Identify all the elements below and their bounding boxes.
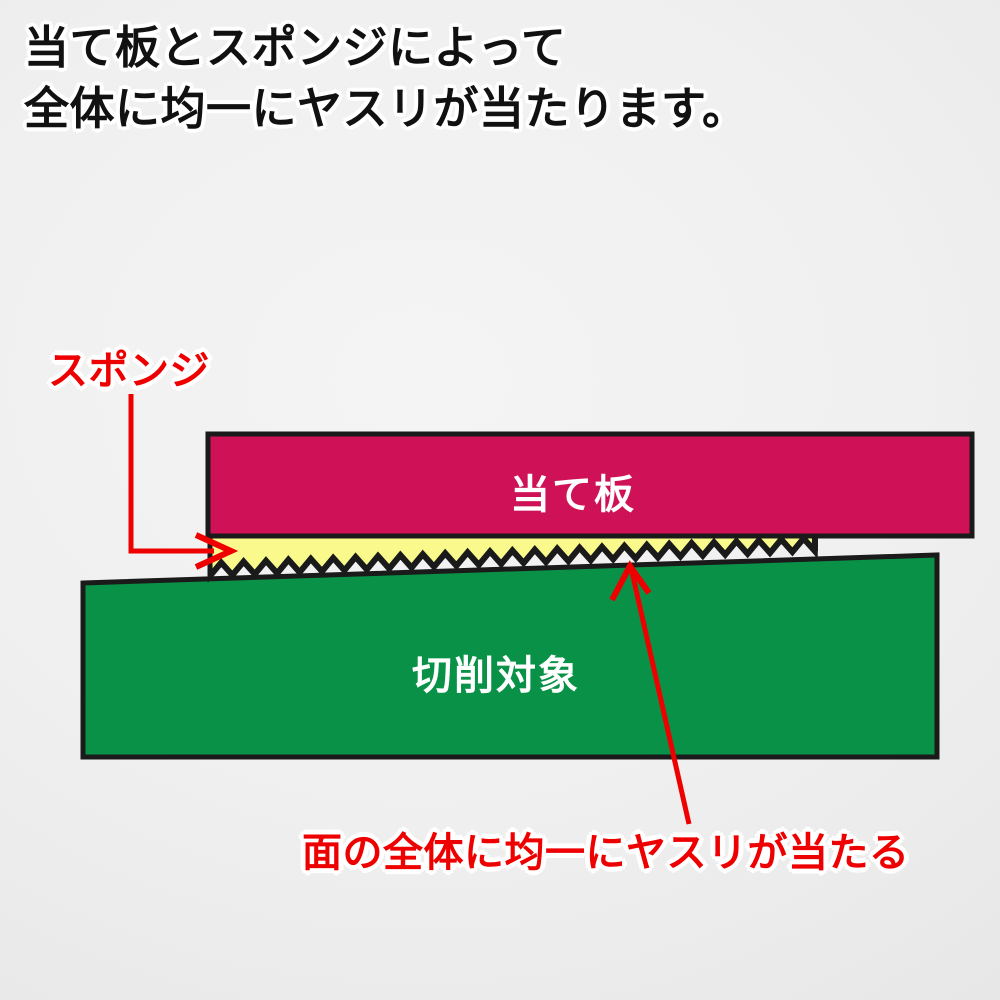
board-plate: [208, 434, 972, 536]
target-block-group: [83, 555, 937, 757]
diagram-canvas: 当て板とスポンジによって 全体に均一にヤスリが当たります。 スポンジ 面の全体に…: [0, 0, 1000, 1000]
sponge-callout-label: スポンジ: [48, 338, 210, 396]
target-block: [83, 555, 937, 757]
bottom-caption-label: 面の全体に均一にヤスリが当たる: [302, 820, 910, 878]
headline-line-1: 当て板とスポンジによって: [24, 22, 566, 73]
board-plate-group: [208, 434, 972, 536]
headline: 当て板とスポンジによって 全体に均一にヤスリが当たります。: [24, 17, 748, 139]
headline-line-2: 全体に均一にヤスリが当たります。: [24, 83, 748, 134]
